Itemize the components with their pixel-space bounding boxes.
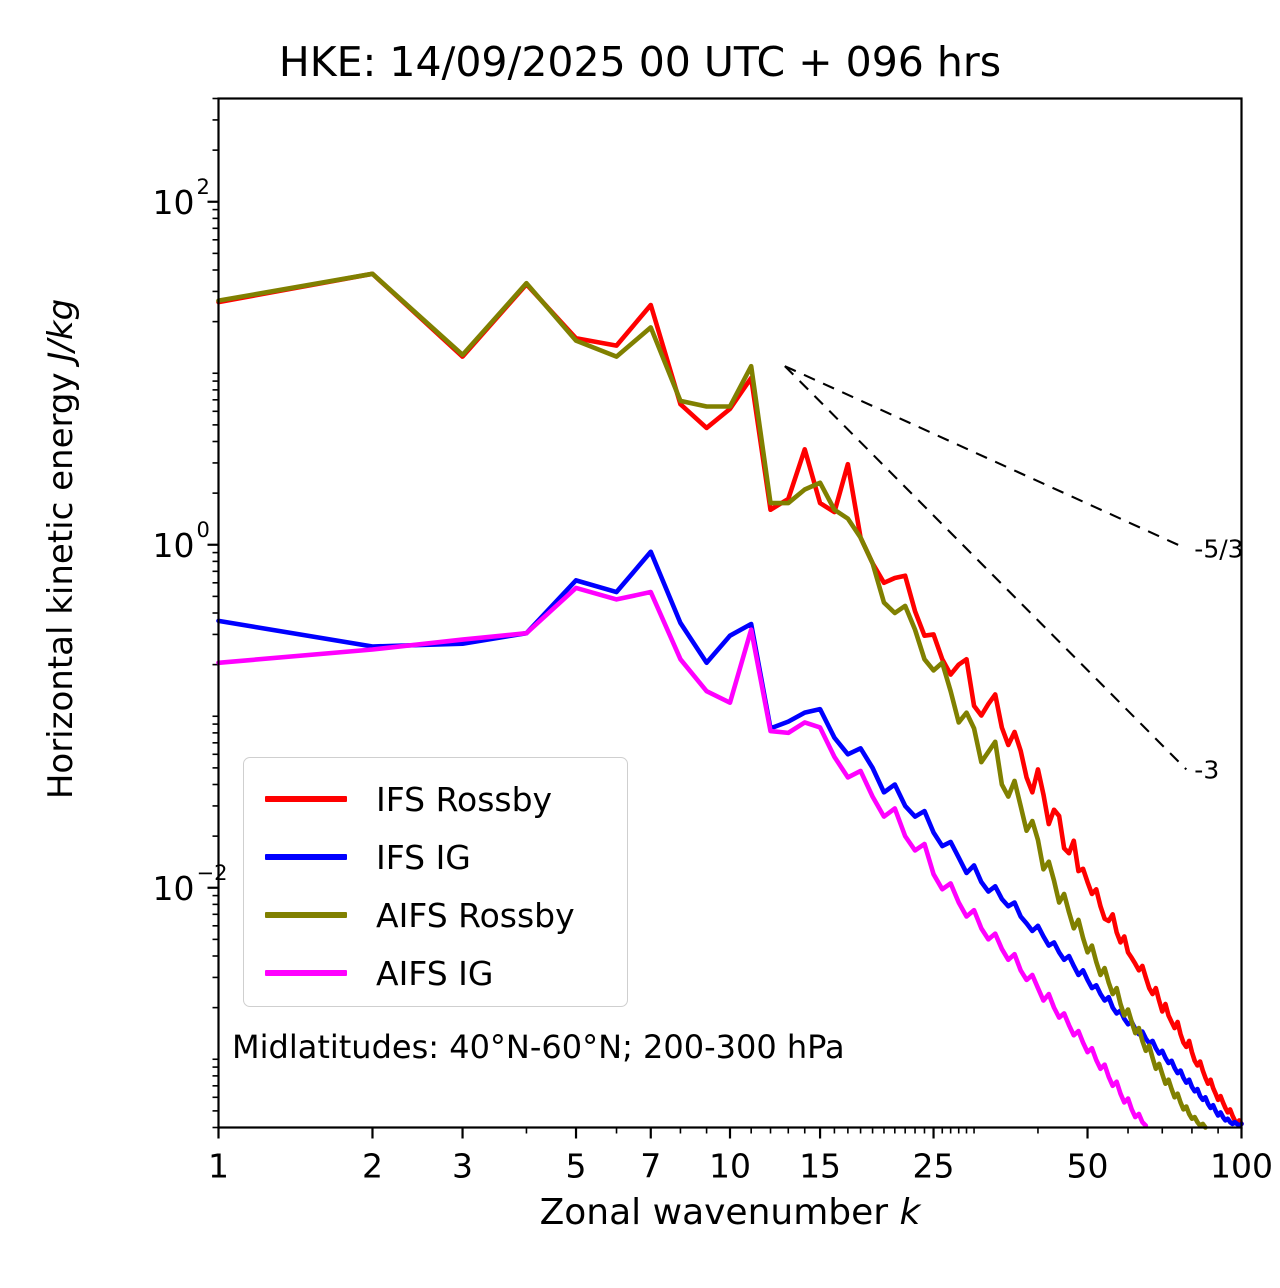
legend-label-aifs-ig: AIFS IG	[376, 957, 493, 990]
svg-text:2: 2	[362, 1147, 383, 1186]
svg-text:50: 50	[1067, 1147, 1109, 1186]
svg-text:3: 3	[452, 1147, 473, 1186]
legend-swatch-aifs-ig	[265, 970, 347, 976]
legend-label-ifs-ig: IFS IG	[376, 841, 471, 874]
svg-text:1: 1	[208, 1147, 229, 1186]
svg-text:2: 2	[197, 175, 210, 199]
legend: IFS Rossby IFS IG AIFS Rossby AIFS IG	[243, 757, 628, 1007]
svg-text:−2: −2	[197, 861, 228, 885]
svg-text:5: 5	[566, 1147, 587, 1186]
legend-item-3[interactable]: AIFS IG	[244, 944, 627, 1002]
legend-item-2[interactable]: AIFS Rossby	[244, 886, 627, 944]
legend-swatch-ifs-ig	[265, 854, 347, 860]
svg-text:10: 10	[153, 526, 195, 565]
region-annotation: Midlatitudes: 40°N-60°N; 200-300 hPa	[232, 1028, 845, 1066]
chart-figure: HKE: 14/09/2025 00 UTC + 096 hrs Horizon…	[0, 0, 1280, 1288]
legend-swatch-ifs-rossby	[265, 796, 347, 802]
legend-label-ifs-rossby: IFS Rossby	[376, 783, 552, 816]
svg-text:15: 15	[799, 1147, 841, 1186]
svg-text:7: 7	[640, 1147, 661, 1186]
svg-text:0: 0	[197, 518, 210, 542]
svg-text:10: 10	[153, 869, 195, 908]
legend-swatch-aifs-rossby	[265, 912, 347, 918]
plot-area: 123571015255010010210010−2 -5/3-3	[0, 0, 1280, 1288]
svg-text:-3: -3	[1194, 755, 1219, 784]
svg-text:10: 10	[153, 183, 195, 222]
legend-item-1[interactable]: IFS IG	[244, 828, 627, 886]
legend-item-0[interactable]: IFS Rossby	[244, 770, 627, 828]
svg-text:25: 25	[913, 1147, 955, 1186]
svg-text:-5/3: -5/3	[1194, 535, 1243, 564]
svg-text:100: 100	[1210, 1147, 1273, 1186]
legend-label-aifs-rossby: AIFS Rossby	[376, 899, 575, 932]
svg-text:10: 10	[709, 1147, 751, 1186]
reference-slope-lines: -5/3-3	[785, 366, 1244, 784]
